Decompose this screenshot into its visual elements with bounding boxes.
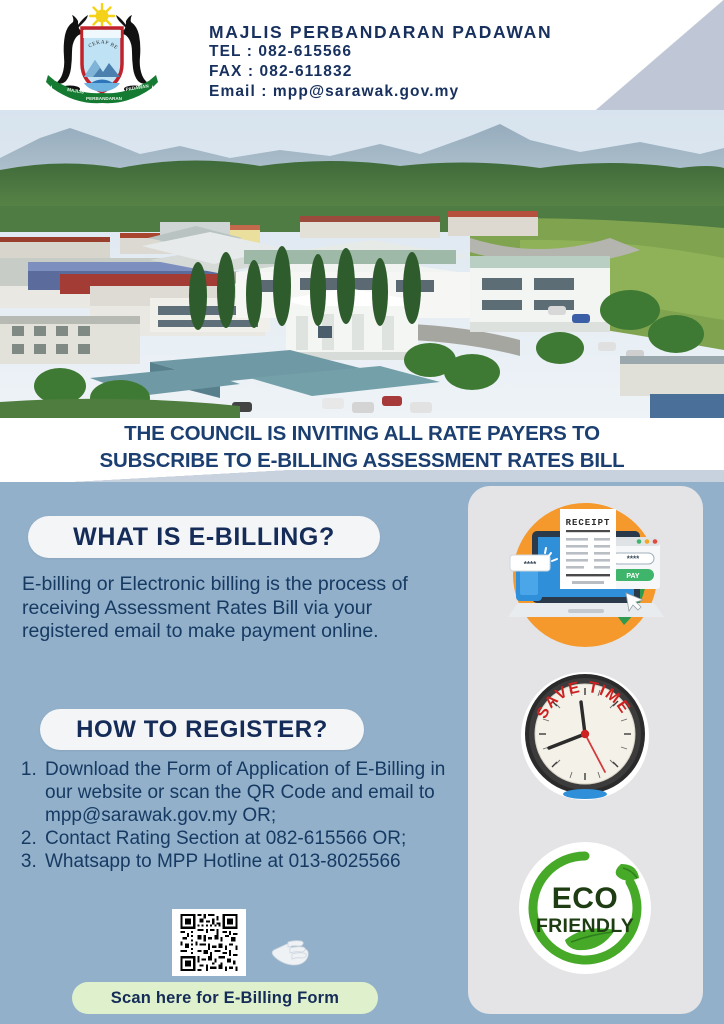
eco-friendly-badge-illustration-icon: ECO FRIENDLY (509, 832, 661, 984)
page-title: THE COUNCIL IS INVITING ALL RATE PAYERS … (0, 420, 724, 474)
org-name: MAJLIS PERBANDARAN PADAWAN (209, 22, 552, 42)
section-heading-what-is-ebilling: WHAT IS E-BILLING? (28, 516, 380, 558)
pointing-hand-icon (268, 930, 314, 976)
qr-code-icon[interactable] (172, 909, 246, 976)
section-heading-how-to-register: HOW TO REGISTER? (40, 709, 364, 750)
eco-label: ECO (552, 882, 619, 915)
aerial-town-photo (0, 110, 724, 418)
list-item: Whatsapp to MPP Hotline at 013-8025566 (42, 850, 472, 873)
receipt-title-label: RECEIPT (566, 518, 611, 528)
list-item: Download the Form of Application of E-Bi… (42, 758, 472, 827)
org-contact-block: MAJLIS PERBANDARAN PADAWAN TEL : 082-615… (209, 22, 552, 102)
header: CEKAP BERSIH MAKMUR MAJLIS PERBANDARAN (0, 0, 724, 110)
headline-line-2: SUBSCRIBE TO E-BILLING ASSESSMENT RATES … (0, 447, 724, 474)
diagonal-corner-accent-icon (594, 0, 724, 110)
pin-dots-label: **** (627, 555, 640, 564)
mpp-coat-of-arms-icon: CEKAP BERSIH MAKMUR MAJLIS PERBANDARAN (34, 3, 170, 107)
org-fax: FAX : 082-611832 (209, 62, 552, 82)
scan-ebilling-form-button[interactable]: Scan here for E-Billing Form (72, 982, 378, 1014)
what-is-ebilling-body: E-billing or Electronic billing is the p… (22, 573, 442, 644)
friendly-label: FRIENDLY (536, 915, 634, 937)
org-tel: TEL : 082-615566 (209, 42, 552, 62)
list-item: Contact Rating Section at 082-615566 OR; (42, 827, 472, 850)
register-steps-list: Download the Form of Application of E-Bi… (18, 758, 472, 873)
receipt-online-payment-illustration-icon: **** PAY **** RECEIPT (492, 497, 678, 653)
pay-button-label: PAY (626, 573, 640, 580)
svg-text:PERBANDARAN: PERBANDARAN (86, 96, 123, 101)
org-email: Email : mpp@sarawak.gov.my (209, 82, 552, 102)
headline-line-1: THE COUNCIL IS INVITING ALL RATE PAYERS … (0, 420, 724, 447)
save-time-clock-illustration-icon: SAVE TIME (509, 662, 661, 814)
svg-text:****: **** (524, 560, 537, 569)
poster-root: CEKAP BERSIH MAKMUR MAJLIS PERBANDARAN (0, 0, 724, 1024)
